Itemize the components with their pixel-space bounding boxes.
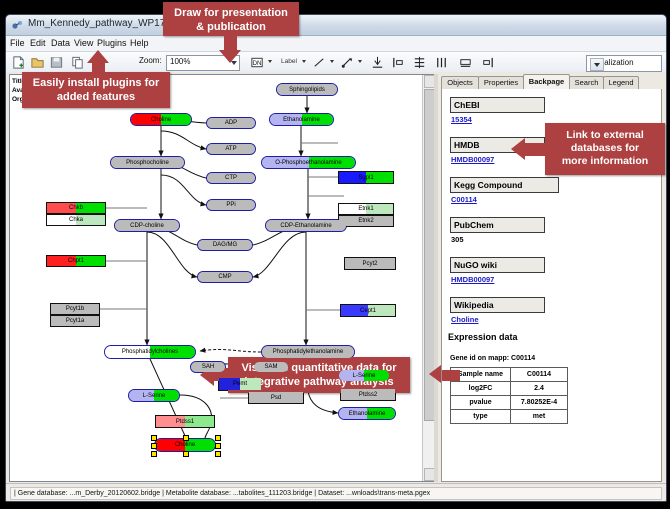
pathway-node-pemt[interactable]: Pemt — [218, 377, 262, 391]
status-bar-text: | Gene database: ...m_Derby_20120602.bri… — [10, 487, 662, 500]
section-header-chebi: ChEBI — [450, 97, 545, 113]
node-label: Ethanolamine — [349, 411, 386, 417]
pathway-node-chka[interactable]: Chka — [46, 214, 106, 226]
pathway-node-sphingolipids[interactable]: Sphingolipids — [276, 83, 338, 96]
node-label: Phosphatidylcholines — [122, 349, 178, 355]
node-label: Sphingolipids — [289, 87, 325, 93]
stack-vertical-icon[interactable] — [412, 55, 427, 70]
link-chebi[interactable]: 15354 — [451, 115, 472, 124]
node-label: CMP — [218, 274, 231, 280]
pathway-node-ethanolamine-right[interactable]: Ethanolamine — [338, 407, 396, 420]
node-label: SAM — [264, 364, 277, 370]
node-label: Cept1 — [360, 308, 376, 314]
pathway-node-phosphatidylcholine[interactable]: Phosphatidylcholines — [104, 345, 196, 359]
selection-handle[interactable] — [151, 451, 157, 457]
node-label: Chkb — [69, 205, 83, 211]
node-label: Chpt1 — [68, 258, 84, 264]
node-label: Phosphatidylethanolamine — [273, 349, 343, 355]
cell-value: C00114 — [511, 368, 568, 382]
node-label: Phosphocholine — [126, 160, 169, 166]
pathway-node-o-phosphoethanolamine[interactable]: O-Phosphoethanolamine — [261, 156, 356, 169]
label-chevron-icon[interactable] — [302, 60, 306, 63]
node-label: Pcyt2 — [362, 261, 377, 267]
node-label: SAH — [202, 364, 214, 370]
table-row: pvalue 7.80252E-4 — [451, 396, 568, 410]
status-bar: | Gene database: ...m_Derby_20120602.bri… — [6, 483, 666, 501]
link-wikipedia[interactable]: Choline — [451, 315, 479, 324]
pathway-node-atp[interactable]: ATP — [206, 143, 256, 155]
new-file-icon[interactable] — [11, 55, 26, 70]
tab-search[interactable]: Search — [569, 76, 604, 89]
expression-table: Sample name C00114 log2FC 2.4 pvalue 7.8… — [450, 367, 568, 424]
visualization-dropdown-button[interactable] — [590, 58, 604, 71]
pathway-node-etnk2[interactable]: Etnk2 — [338, 215, 394, 227]
pathway-node-sam[interactable]: SAM — [253, 361, 289, 373]
section-header-pubchem: PubChem — [450, 217, 545, 233]
tab-objects[interactable]: Objects — [441, 76, 479, 89]
selection-handle[interactable] — [151, 443, 157, 449]
pathway-node-ethanolamine-top[interactable]: Ethanolamine — [269, 113, 334, 126]
node-label: Psd — [271, 395, 281, 401]
pathway-node-phosphocholine[interactable]: Phosphocholine — [110, 156, 185, 169]
pathway-node-chkb[interactable]: Chkb — [46, 202, 106, 214]
pathway-node-etnk1[interactable]: Etnk1 — [338, 203, 394, 215]
visualization-combo[interactable]: visualization — [586, 55, 662, 72]
node-label: ADP — [225, 120, 237, 126]
menu-data[interactable]: Data — [51, 38, 70, 48]
interaction-chevron-icon[interactable] — [358, 60, 362, 63]
selection-handle[interactable] — [183, 435, 189, 441]
datanode-icon[interactable]: DN — [250, 55, 265, 70]
distribute-icon[interactable] — [434, 55, 449, 70]
align-left-icon[interactable] — [391, 55, 406, 70]
pathway-nodes: CholineSphingolipidsEthanolaminePhosphoc… — [10, 75, 422, 482]
node-label: PPi — [226, 202, 235, 208]
node-label: Etnk1 — [358, 206, 373, 212]
pathway-node-adp[interactable]: ADP — [206, 117, 256, 129]
pathway-node-cdp-ethanolamine[interactable]: CDP-Ethanolamine — [265, 219, 347, 232]
svg-text:DN: DN — [253, 60, 262, 67]
node-label: ATP — [225, 146, 236, 152]
label-tool-label[interactable]: Label — [281, 58, 297, 65]
pathvisio-icon — [11, 19, 23, 31]
pathway-node-pcyt2[interactable]: Pcyt2 — [344, 257, 396, 270]
side-panel-tabs: Objects Properties Backpage Search Legen… — [441, 74, 663, 88]
node-label: CDP-choline — [130, 223, 164, 229]
cell-key: type — [451, 410, 511, 424]
pathway-node-ctp[interactable]: CTP — [206, 172, 256, 184]
pathway-node-pcyt1a[interactable]: Pcyt1a — [50, 315, 100, 327]
node-label: L-Serine — [143, 393, 166, 399]
datanode-chevron-icon[interactable] — [268, 60, 272, 63]
menu-view[interactable]: View — [74, 38, 93, 48]
pathway-node-sgpl1[interactable]: Sgpl1 — [338, 171, 394, 184]
draw-callout-arrow — [219, 50, 241, 63]
cell-key: pvalue — [451, 396, 511, 410]
node-label: Ptdss1 — [176, 419, 194, 425]
node-label: CTP — [225, 175, 237, 181]
zoom-label: Zoom: — [139, 56, 162, 65]
expression-data-title: Expression data — [448, 332, 518, 342]
title-bar: Mm_Kennedy_pathway_WP1771_45176.gpml — [6, 15, 666, 36]
table-row: Sample name C00114 — [451, 368, 568, 382]
pathway-node-pcyt1b[interactable]: Pcyt1b — [50, 303, 100, 315]
align-top-icon[interactable] — [370, 55, 385, 70]
value-pubchem: 305 — [451, 235, 464, 244]
link-callout-arrow — [511, 138, 525, 160]
plugins-callout-stem — [92, 62, 105, 74]
pathway-node-ptdss1[interactable]: Ptdss1 — [155, 415, 215, 428]
tab-backpage[interactable]: Backpage — [523, 74, 570, 89]
node-label: DAG/MG — [213, 242, 237, 248]
line-icon[interactable] — [312, 55, 327, 70]
menu-plugins[interactable]: Plugins — [97, 38, 127, 48]
node-label: CDP-Ethanolamine — [280, 223, 331, 229]
plugins-callout: Easily install plugins foradded features — [22, 72, 170, 108]
pathway-node-choline-top[interactable]: Choline — [130, 113, 192, 126]
pathway-node-l-serine-left[interactable]: L-Serine — [128, 389, 180, 402]
pathway-node-cept1[interactable]: Cept1 — [340, 304, 396, 317]
plugins-callout-arrow — [87, 50, 109, 63]
selection-handle[interactable] — [215, 435, 221, 441]
node-label: Ethanolamine — [283, 117, 320, 123]
open-folder-icon[interactable] — [30, 55, 45, 70]
pathway-node-ptdss2[interactable]: Ptdss2 — [340, 388, 396, 401]
node-label: Pcyt1b — [66, 306, 84, 312]
selection-handle[interactable] — [151, 435, 157, 441]
plugins-callout-text: Easily install plugins foradded features — [33, 77, 160, 103]
pathway-node-l-serine-right[interactable]: L-Serine — [338, 369, 390, 382]
section-header-nugo: NuGO wiki — [450, 257, 545, 273]
link-callout: Link to externaldatabases formore inform… — [545, 123, 665, 175]
selection-handle[interactable] — [215, 443, 221, 449]
pathway-node-psd[interactable]: Psd — [248, 391, 304, 404]
link-kegg[interactable]: C00114 — [451, 195, 477, 204]
section-header-wikipedia: Wikipedia — [450, 297, 545, 313]
group-icon[interactable] — [458, 55, 473, 70]
pathway-node-chpt1[interactable]: Chpt1 — [46, 255, 106, 267]
save-icon[interactable] — [49, 55, 64, 70]
pathway-node-cdp-choline[interactable]: CDP-choline — [114, 219, 180, 232]
pathway-canvas[interactable]: Title: Availa Organ — [9, 74, 435, 482]
expression-callout-stem — [442, 370, 460, 381]
pathway-node-cmp[interactable]: CMP — [197, 271, 253, 283]
copy-icon[interactable] — [70, 55, 85, 70]
pathway-node-sah[interactable]: SAH — [190, 361, 226, 373]
pathway-node-phosphatidylethanolamine[interactable]: Phosphatidylethanolamine — [261, 345, 355, 359]
line-chevron-icon[interactable] — [330, 60, 334, 63]
pathway-node-dag-mg[interactable]: DAG/MG — [197, 239, 253, 251]
menu-help[interactable]: Help — [130, 38, 149, 48]
node-label: O-Phosphoethanolamine — [275, 160, 341, 166]
pathway-node-ppi[interactable]: PPi — [206, 199, 256, 211]
selection-handle[interactable] — [215, 451, 221, 457]
expression-callout-arrow — [429, 365, 441, 383]
gene-id-on-mapp: Gene id on mapp: C00114 — [450, 355, 535, 362]
cell-value: 2.4 — [511, 382, 568, 396]
node-label: Choline — [151, 117, 171, 123]
link-callout-stem — [525, 143, 547, 156]
draw-callout-stem — [224, 36, 237, 51]
tab-properties[interactable]: Properties — [478, 76, 524, 89]
selection-handle[interactable] — [183, 451, 189, 457]
node-label: Choline — [175, 442, 195, 448]
canvas-vertical-scrollbar[interactable] — [422, 75, 434, 481]
node-label: Pcyt1a — [66, 318, 84, 324]
zoom-value: 100% — [170, 57, 190, 66]
link-nugo[interactable]: HMDB00097 — [451, 275, 494, 284]
cell-key: log2FC — [451, 382, 511, 396]
section-header-kegg: Kegg Compound — [450, 177, 559, 193]
cell-value: met — [511, 410, 568, 424]
draw-callout: Draw for presentation& publication — [163, 2, 299, 36]
menu-file[interactable]: File — [10, 38, 25, 48]
table-row: log2FC 2.4 — [451, 382, 568, 396]
node-label: Chka — [69, 217, 83, 223]
menu-edit[interactable]: Edit — [30, 38, 46, 48]
table-row: type met — [451, 410, 568, 424]
node-label: Pemt — [233, 381, 247, 387]
draw-callout-text: Draw for presentation& publication — [174, 7, 288, 33]
screenshot-root: Mm_Kennedy_pathway_WP1771_45176.gpml Fil… — [0, 0, 670, 509]
node-label: Sgpl1 — [358, 175, 373, 181]
node-label: Etnk2 — [358, 218, 373, 224]
interaction-icon[interactable] — [340, 55, 355, 70]
align-right-icon[interactable] — [480, 55, 495, 70]
node-label: Ptdss2 — [359, 392, 377, 398]
link-callout-text: Link to externaldatabases formore inform… — [562, 129, 648, 167]
node-label: L-Serine — [353, 373, 376, 379]
cell-value: 7.80252E-4 — [511, 396, 568, 410]
link-hmdb[interactable]: HMDB00097 — [451, 155, 494, 164]
tab-legend[interactable]: Legend — [603, 76, 639, 89]
